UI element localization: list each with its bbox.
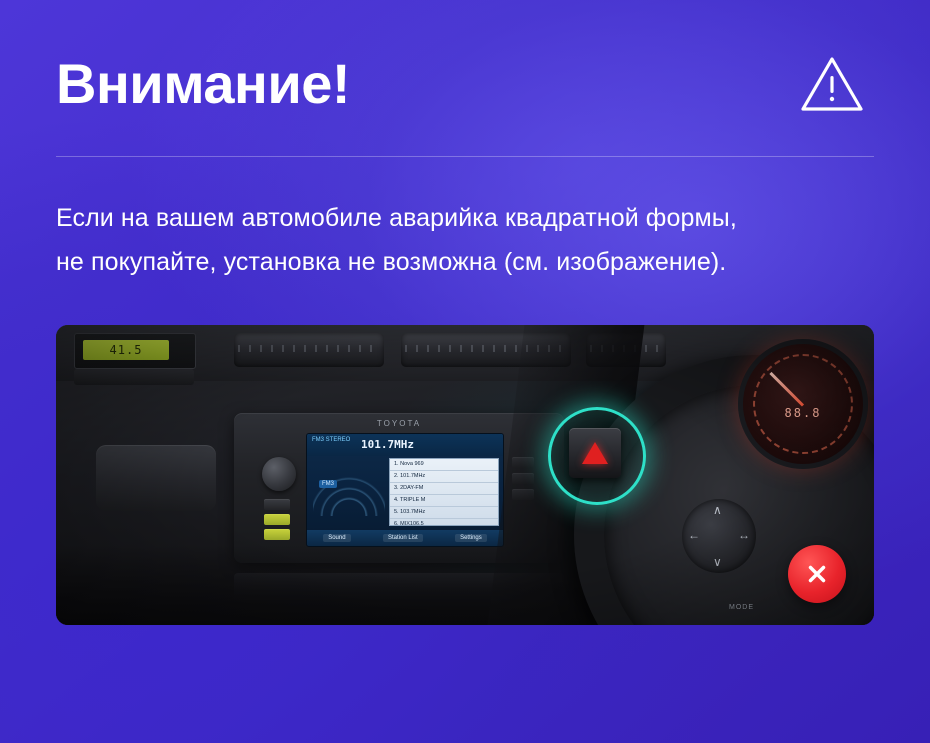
list-item: 1. Nova 969 xyxy=(390,459,498,471)
screen-button-sound: Sound xyxy=(323,534,350,542)
screen-top-bar: FM3 STEREO 101.7MHz xyxy=(307,434,503,456)
screen-band-label: FM3 STEREO xyxy=(312,436,350,444)
volume-knob xyxy=(262,457,296,491)
chevron-down-icon: ∨ xyxy=(713,555,722,569)
page-title: Внимание! xyxy=(56,55,350,114)
screen-station-list: 1. Nova 969 2. 101.7MHz 3. 2DAY-FM 4. TR… xyxy=(389,458,499,526)
hazard-button-square xyxy=(569,428,621,478)
warning-triangle-icon xyxy=(800,54,864,114)
arrow-swap-icon: ↔ xyxy=(738,528,750,542)
arrow-left-icon: ← xyxy=(688,528,700,542)
banner-content: Внимание! Если на вашем автомобиле авари… xyxy=(0,0,930,625)
hvac-display: 41.5 xyxy=(74,333,196,369)
hvac-display-value: 41.5 xyxy=(83,340,169,360)
chevron-up-icon: ∧ xyxy=(713,503,722,517)
screen-button-bar: Sound Station List Settings xyxy=(307,530,503,546)
warning-message-line-1: Если на вашем автомобиле аварийка квадра… xyxy=(56,197,874,241)
screen-signal-graphic: FM3 xyxy=(313,464,385,516)
head-unit-button xyxy=(264,514,290,525)
glovebox-panel xyxy=(96,445,216,511)
list-item: 3. 2DAY-FM xyxy=(390,483,498,495)
air-vent-center-left xyxy=(234,333,384,367)
screen-button-station-list: Station List xyxy=(383,534,423,542)
cluster-value: 88.8 xyxy=(743,406,863,420)
head-unit-button xyxy=(264,499,290,510)
hazard-triangle-icon xyxy=(582,442,608,464)
car-dashboard-photo: 41.5 TOYOTA FM3 STEREO 101.7MHz FM3 1. N… xyxy=(56,325,874,625)
head-unit-screen: FM3 STEREO 101.7MHz FM3 1. Nova 969 2. 1… xyxy=(306,433,504,547)
warning-message: Если на вашем автомобиле аварийка квадра… xyxy=(56,197,874,285)
screen-frequency: 101.7MHz xyxy=(361,438,414,451)
head-unit-button xyxy=(264,529,290,540)
title-row: Внимание! xyxy=(56,0,874,114)
steering-wheel-controls: ∧ ∨ ← ↔ xyxy=(682,499,756,573)
warning-message-line-2: не покупайте, установка не возможна (см.… xyxy=(56,241,874,285)
divider xyxy=(56,156,874,157)
cross-icon xyxy=(804,561,830,587)
screen-button-settings: Settings xyxy=(455,534,487,542)
screen-preset-badge: FM3 xyxy=(319,480,337,488)
steering-mode-button-label: MODE xyxy=(729,604,754,611)
warning-banner: Внимание! Если на вашем автомобиле авари… xyxy=(0,0,930,743)
prohibited-badge xyxy=(788,545,846,603)
list-item: 5. 103.7MHz xyxy=(390,507,498,519)
instrument-cluster: 88.8 xyxy=(738,339,868,469)
cluster-needle xyxy=(769,371,804,406)
list-item: 2. 101.7MHz xyxy=(390,471,498,483)
list-item: 4. TRIPLE M xyxy=(390,495,498,507)
hvac-knobs xyxy=(74,369,194,385)
